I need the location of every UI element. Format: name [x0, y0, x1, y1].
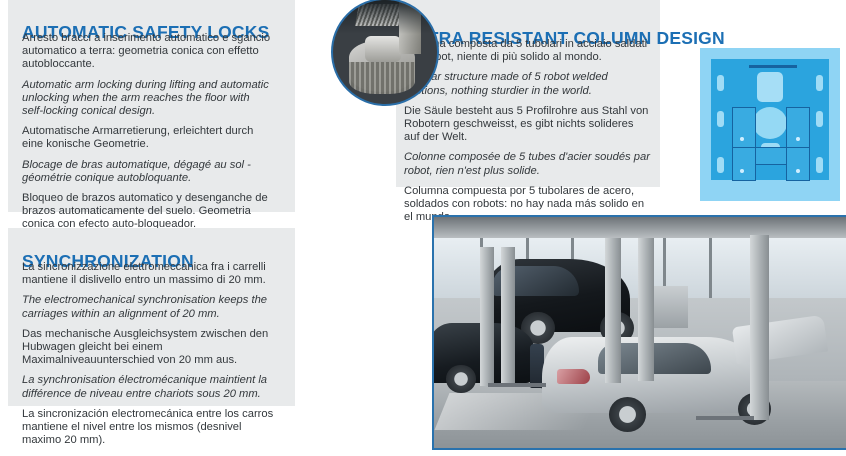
section-body-safety-locks: Arresto bracci a inserimento automatico …	[22, 32, 272, 239]
diagram-tube-left-upper	[732, 107, 756, 151]
diagram-tube-left-lower	[732, 147, 756, 181]
diagram-tube-right-upper	[786, 107, 810, 151]
paragraph-de: Das mechanische Ausgleichsystem zwischen…	[22, 328, 282, 368]
paragraph-es: La sincronización electromecánica entre …	[22, 408, 282, 448]
photo-lift-post	[750, 235, 769, 420]
paragraph-it: Colonna composta da 5 tubolari in acciai…	[404, 38, 652, 64]
section-automatic-safety-locks: AUTOMATIC SAFETY LOCKS Arresto bracci a …	[8, 0, 295, 212]
diagram-top-box	[757, 72, 783, 102]
safety-lock-gear-detail-photo	[331, 0, 439, 106]
paragraph-en: Automatic arm locking during lifting and…	[22, 79, 272, 119]
paragraph-de: Die Säule besteht aus 5 Profilrohre aus …	[404, 105, 652, 145]
diagram-slot	[816, 157, 823, 173]
diagram-slot	[717, 157, 724, 173]
diagram-slot	[816, 75, 823, 91]
diagram-weld-dot	[740, 169, 744, 173]
paragraph-fr: La synchronisation électromécanique main…	[22, 374, 282, 400]
diagram-slot	[717, 75, 724, 91]
paragraph-fr: Colonne composée de 5 tubes d'acier soud…	[404, 151, 652, 177]
diagram-top-bar	[749, 65, 797, 68]
section-synchronization: SYNCHRONIZATION La sincronizzazione elet…	[8, 228, 295, 406]
photo-lift-post	[605, 238, 622, 384]
paragraph-de: Automatische Armarretierung, erleichtert…	[22, 125, 272, 151]
diagram-plate	[711, 59, 829, 180]
paragraph-es: Bloqueo de brazos automatico y desenganc…	[22, 192, 272, 232]
diagram-center-circle	[753, 107, 787, 139]
section-body-column-design: Colonna composta da 5 tubolari in acciai…	[404, 38, 652, 231]
diagram-tube-right-lower	[786, 147, 810, 181]
paragraph-it: Arresto bracci a inserimento automatico …	[22, 32, 272, 72]
column-cross-section-diagram	[700, 48, 840, 201]
paragraph-en: The electromechanical synchronisation ke…	[22, 294, 282, 320]
section-body-synchronization: La sincronizzazione elettromeccanica fra…	[22, 261, 282, 454]
diagram-weld-dot	[796, 169, 800, 173]
photo-lift-arm	[696, 416, 754, 420]
paragraph-en: Tubular structure made of 5 robot welded…	[404, 71, 652, 97]
paragraph-it: La sincronizzazione elettromeccanica fra…	[22, 261, 282, 287]
photo-ceiling	[434, 217, 846, 238]
workshop-lifts-photo	[432, 215, 846, 450]
diagram-weld-dot	[740, 137, 744, 141]
photo-lift-post	[638, 238, 655, 381]
gear-hub-shape	[365, 36, 401, 62]
gear-teeth-shape	[349, 62, 415, 94]
photo-car-wheel	[609, 397, 646, 432]
diagram-weld-dot	[796, 137, 800, 141]
photo-car-taillight	[557, 369, 589, 384]
photo-car-wheel	[446, 365, 475, 393]
paragraph-fr: Blocage de bras automatique, dégagé au s…	[22, 159, 272, 185]
photo-lift-post	[501, 247, 516, 386]
photo-lift-arm	[488, 383, 546, 387]
diagram-slot	[816, 111, 823, 127]
photo-shadow	[333, 0, 437, 34]
diagram-slot	[717, 111, 724, 127]
photo-window-mullion	[709, 238, 712, 298]
photo-lift-post	[480, 247, 495, 386]
